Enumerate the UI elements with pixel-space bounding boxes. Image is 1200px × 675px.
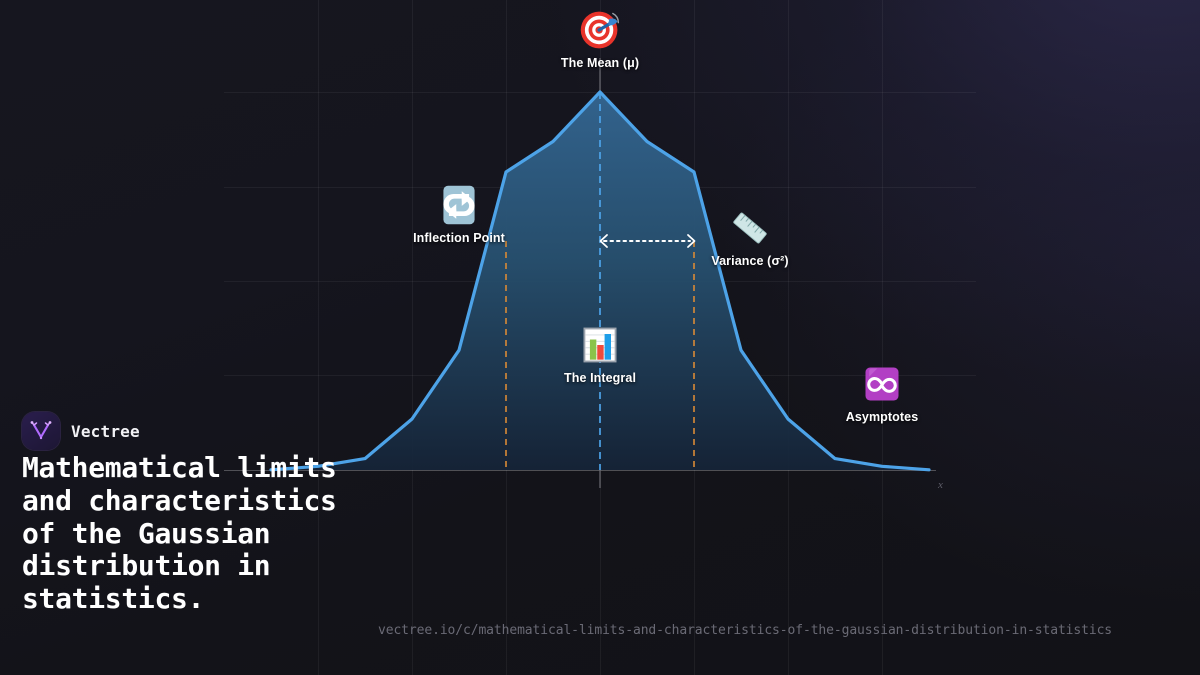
annotation-mean: The Mean (μ)	[500, 8, 700, 70]
poster-canvas: x	[0, 0, 1200, 675]
dart-target-icon	[578, 8, 622, 52]
annotation-asymptotes: Asymptotes	[782, 362, 982, 424]
annotation-inflection-point: Inflection Point	[359, 183, 559, 245]
infinity-icon	[860, 362, 904, 406]
annotation-inflection-point-label: Inflection Point	[413, 231, 505, 245]
headline-text: Mathematical limits and characteristics …	[22, 452, 382, 616]
annotation-integral-label: The Integral	[564, 371, 636, 385]
annotation-integral: The Integral	[500, 323, 700, 385]
brand-name: Vectree	[71, 422, 140, 441]
straight-ruler-icon	[728, 206, 772, 250]
annotation-mean-label: The Mean (μ)	[561, 56, 639, 70]
annotation-asymptotes-label: Asymptotes	[846, 410, 919, 424]
annotation-variance-label: Variance (σ²)	[711, 254, 788, 268]
source-url: vectree.io/c/mathematical-limits-and-cha…	[378, 623, 1112, 638]
counterclockwise-arrows-icon	[437, 183, 481, 227]
vectree-logo-icon	[22, 412, 60, 450]
annotation-variance: Variance (σ²)	[650, 206, 850, 268]
brand-lockup: Vectree	[22, 412, 140, 450]
bar-chart-icon	[578, 323, 622, 367]
